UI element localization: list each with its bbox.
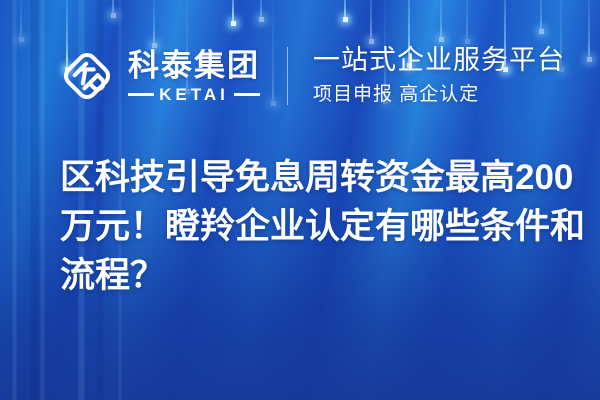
headline-line-1: 区科技引导免息周转资金最高200 — [60, 153, 560, 202]
brand-wordmark: 科泰集团 KETAI — [128, 50, 260, 103]
promo-banner: 科泰集团 KETAI 一站式企业服务平台 项目申报 高企认定 区科技引导免息周转… — [0, 0, 600, 400]
headline-line-3: 流程？ — [60, 251, 560, 300]
wordmark-dash-left — [128, 93, 154, 96]
tagline-sub: 项目申报 高企认定 — [313, 85, 565, 106]
brand-name-en-row: KETAI — [128, 86, 260, 103]
ketai-diamond-kp-monogram-icon — [58, 47, 116, 105]
brand-name-en: KETAI — [159, 86, 229, 103]
header-divider — [287, 47, 288, 105]
tagline-block: 一站式企业服务平台 项目申报 高企认定 — [313, 46, 565, 106]
brand-logo: 科泰集团 KETAI — [58, 47, 260, 105]
banner-header: 科泰集团 KETAI 一站式企业服务平台 项目申报 高企认定 — [0, 36, 600, 116]
headline: 区科技引导免息周转资金最高200 万元！瞪羚企业认定有哪些条件和 流程？ — [60, 153, 560, 300]
tagline-main: 一站式企业服务平台 — [313, 46, 565, 76]
brand-name-cn: 科泰集团 — [128, 50, 260, 81]
wordmark-dash-right — [234, 93, 260, 96]
headline-line-2: 万元！瞪羚企业认定有哪些条件和 — [60, 202, 560, 251]
